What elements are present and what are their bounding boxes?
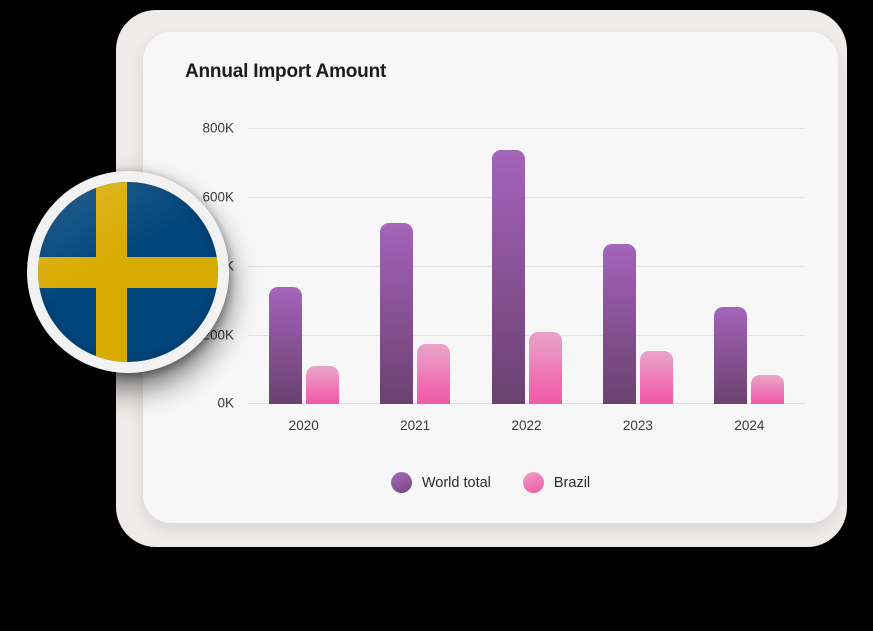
chart-card: Annual Import Amount 800K 600K 400K 200K… <box>143 32 838 523</box>
bar-world-total-2024[interactable] <box>714 307 747 404</box>
bar-brazil-2024[interactable] <box>751 375 784 404</box>
bar-brazil-2020[interactable] <box>306 366 339 404</box>
bar-world-total-2020[interactable] <box>269 287 302 404</box>
flag-cross-horizontal <box>38 257 218 289</box>
y-axis-tick-label: 600K <box>202 190 234 205</box>
x-axis-tick-label: 2024 <box>734 418 764 433</box>
x-axis-tick-label: 2021 <box>400 418 430 433</box>
bar-group-2021: 2021 <box>359 128 470 404</box>
bar-brazil-2021[interactable] <box>417 344 450 404</box>
legend-item-world-total[interactable]: World total <box>391 472 491 493</box>
legend-item-brazil[interactable]: Brazil <box>523 472 590 493</box>
sweden-flag-badge <box>27 171 229 373</box>
x-axis-tick-label: 2020 <box>289 418 319 433</box>
bar-brazil-2023[interactable] <box>640 351 673 404</box>
screenshot-stage: Annual Import Amount 800K 600K 400K 200K… <box>0 0 873 631</box>
bar-group-2024: 2024 <box>694 128 805 404</box>
bar-world-total-2022[interactable] <box>492 150 525 404</box>
legend-label: World total <box>422 475 491 491</box>
chart-plot-area: 800K 600K 400K 200K 0K 2020 <box>248 128 805 404</box>
x-axis-tick-label: 2023 <box>623 418 653 433</box>
y-axis-tick-label: 800K <box>202 121 234 136</box>
legend-swatch-world-total-icon <box>391 472 412 493</box>
legend-label: Brazil <box>554 475 590 491</box>
chart-legend: World total Brazil <box>143 472 838 493</box>
bar-group-2022: 2022 <box>471 128 582 404</box>
bar-groups: 2020 2021 2022 2023 <box>248 128 805 404</box>
sweden-flag-icon <box>38 182 218 362</box>
bar-group-2020: 2020 <box>248 128 359 404</box>
y-axis-tick-label: 0K <box>217 396 234 411</box>
bar-world-total-2023[interactable] <box>603 244 636 404</box>
legend-swatch-brazil-icon <box>523 472 544 493</box>
bar-brazil-2022[interactable] <box>529 332 562 404</box>
bar-group-2023: 2023 <box>582 128 693 404</box>
bar-world-total-2021[interactable] <box>380 223 413 404</box>
page-title: Annual Import Amount <box>185 61 386 83</box>
x-axis-tick-label: 2022 <box>511 418 541 433</box>
